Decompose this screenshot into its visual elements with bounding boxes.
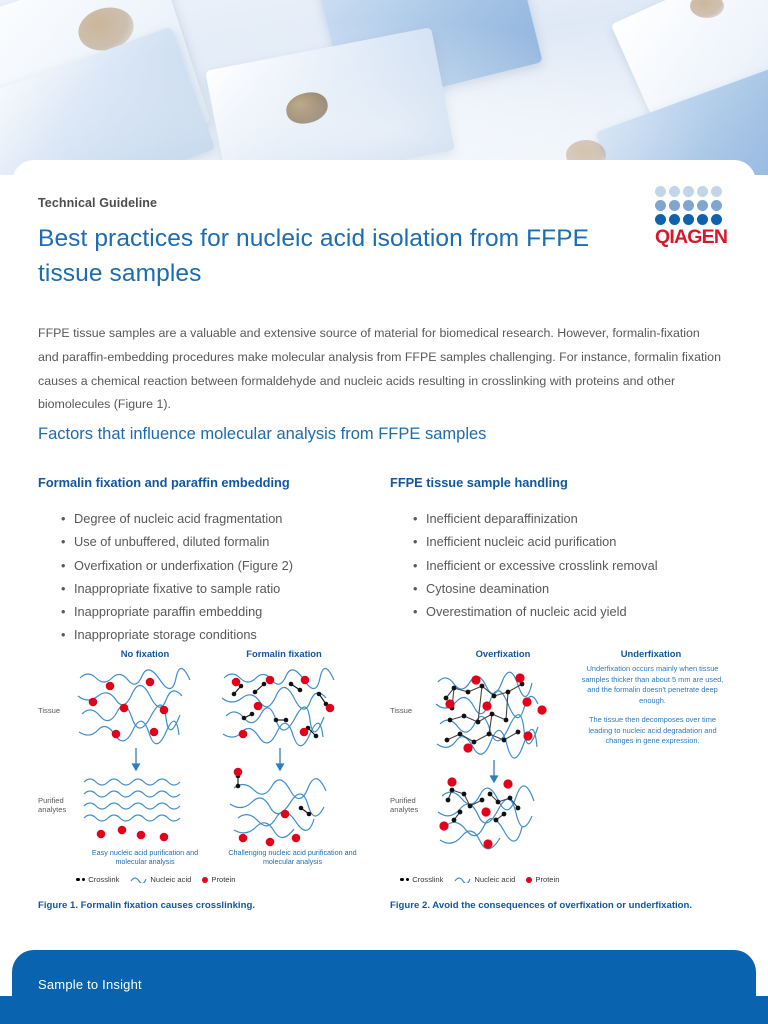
legend-protein: Protein <box>526 875 559 884</box>
photo-glare <box>0 0 768 175</box>
underfixation-paragraph: The tissue then decomposes over time lea… <box>580 715 725 747</box>
figure2-underfixation-text: Underfixation occurs mainly when tissue … <box>580 664 725 755</box>
figure1-caption-challenging-purification: Challenging nucleic acid purification an… <box>220 848 365 867</box>
logo-dot-row <box>655 214 731 225</box>
document-eyebrow: Technical Guideline <box>38 196 157 210</box>
figure2-caption: Figure 2. Avoid the consequences of over… <box>390 900 735 911</box>
list-item: Degree of nucleic acid fragmentation <box>74 507 394 530</box>
legend-label: Crosslink <box>88 875 119 884</box>
protein-icon <box>202 877 208 883</box>
legend-nucleic-acid: Nucleic acid <box>454 875 515 884</box>
logo-dot-row <box>655 186 731 197</box>
bullet-list-formalin-fixation: Degree of nucleic acid fragmentation Use… <box>56 507 394 647</box>
legend-crosslink: Crosslink <box>76 875 119 884</box>
protein-icon <box>526 877 532 883</box>
list-item: Inefficient deparaffinization <box>426 507 746 530</box>
figure1-caption: Figure 1. Formalin fixation causes cross… <box>38 900 383 911</box>
content-card: Technical Guideline QIAGEN Best practice… <box>12 160 756 950</box>
list-item: Inefficient nucleic acid purification <box>426 530 746 553</box>
legend-label: Crosslink <box>412 875 443 884</box>
column-heading-sample-handling: FFPE tissue sample handling <box>390 475 568 490</box>
crosslink-icon <box>400 878 409 882</box>
list-item: Inefficient or excessive crosslink remov… <box>426 554 746 577</box>
legend-label: Nucleic acid <box>150 875 191 884</box>
footer-tagline: Sample to Insight <box>38 977 142 992</box>
figure-2: Overfixation Underfixation Tissue Purifi… <box>390 648 735 911</box>
legend-label: Protein <box>535 875 559 884</box>
legend-nucleic-acid: Nucleic acid <box>130 875 191 884</box>
legend-label: Nucleic acid <box>474 875 515 884</box>
qiagen-logo: QIAGEN <box>655 186 731 248</box>
legend-label: Protein <box>211 875 235 884</box>
list-item: Inappropriate storage conditions <box>74 623 394 646</box>
figure-1: No fixation Formalin fixation Tissue Pur… <box>38 648 383 911</box>
figure1-legend: Crosslink Nucleic acid Protein <box>76 875 383 884</box>
nucleic-acid-icon <box>130 876 147 883</box>
footer-banner: Sample to Insight <box>12 950 756 1024</box>
hero-photo <box>0 0 768 175</box>
section-heading: Factors that influence molecular analysi… <box>38 425 486 444</box>
intro-paragraph: FFPE tissue samples are a valuable and e… <box>38 322 722 417</box>
nucleic-acid-icon <box>454 876 471 883</box>
figure2-legend: Crosslink Nucleic acid Protein <box>400 875 735 884</box>
list-item: Use of unbuffered, diluted formalin <box>74 530 394 553</box>
column-heading-formalin-fixation: Formalin fixation and paraffin embedding <box>38 475 290 490</box>
list-item: Overfixation or underfixation (Figure 2) <box>74 554 394 577</box>
bullet-list-sample-handling: Inefficient deparaffinization Inefficien… <box>408 507 746 623</box>
list-item: Inappropriate paraffin embedding <box>74 600 394 623</box>
list-item: Cytosine deamination <box>426 577 746 600</box>
figure1-diagram <box>38 648 383 873</box>
list-item: Overestimation of nucleic acid yield <box>426 600 746 623</box>
underfixation-paragraph: Underfixation occurs mainly when tissue … <box>580 664 725 707</box>
legend-crosslink: Crosslink <box>400 875 443 884</box>
logo-dot-row <box>655 200 731 211</box>
qiagen-wordmark: QIAGEN <box>655 228 731 248</box>
list-item: Inappropriate fixative to sample ratio <box>74 577 394 600</box>
crosslink-icon <box>76 878 85 882</box>
figure1-caption-easy-purification: Easy nucleic acid purification and molec… <box>80 848 210 867</box>
legend-protein: Protein <box>202 875 235 884</box>
page-title: Best practices for nucleic acid isolatio… <box>38 222 638 292</box>
